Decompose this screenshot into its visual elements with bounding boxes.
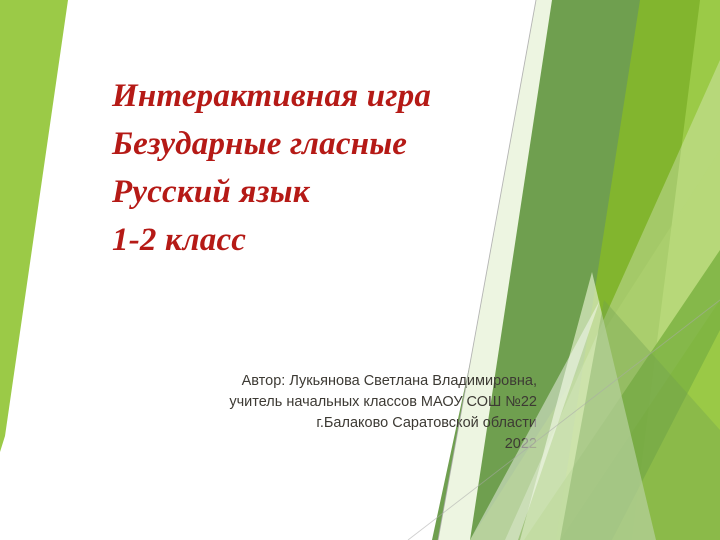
author-block: Автор: Лукьянова Светлана Владимировна, … (167, 371, 537, 455)
title-line-1: Интерактивная игра (112, 72, 542, 120)
right-bright-green-band (528, 0, 700, 540)
author-line-3: г.Балаково Саратовской области (167, 413, 537, 434)
author-year: 2022 (167, 434, 537, 455)
left-green-wedge (0, 0, 68, 452)
title-line-2: Безударные гласные (112, 120, 542, 168)
author-line-1: Автор: Лукьянова Светлана Владимировна, (167, 371, 537, 392)
title-line-4: 1-2 класс (112, 216, 542, 264)
title-line-3: Русский язык (112, 168, 542, 216)
right-edge-green-strip (628, 0, 720, 540)
shard-bright-right (612, 330, 720, 540)
presentation-slide: Интерактивная игра Безударные гласные Ру… (0, 0, 720, 540)
shard-light-triangle (520, 272, 656, 540)
author-line-2: учитель начальных классов МАОУ СОШ №22 (167, 392, 537, 413)
title-block: Интерактивная игра Безударные гласные Ру… (112, 72, 542, 264)
shard-deep-green (560, 300, 720, 540)
shard-mid-green (524, 250, 720, 540)
